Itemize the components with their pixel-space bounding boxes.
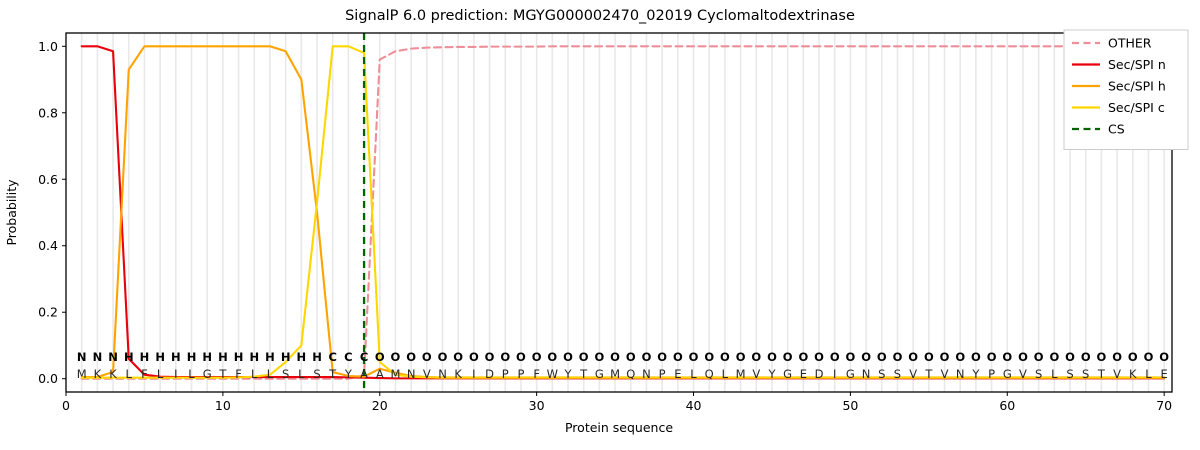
sequence-letter: F xyxy=(235,367,242,381)
sequence-letter: M xyxy=(77,367,87,381)
sequence-letter: E xyxy=(800,367,807,381)
sequence-letter: N xyxy=(438,367,447,381)
sequence-letter: V xyxy=(1019,367,1027,381)
sequence-letter: G xyxy=(203,367,212,381)
sequence-letter: L xyxy=(1145,367,1152,381)
region-annotation-letter: O xyxy=(1049,350,1059,364)
sequence-letter: S xyxy=(1066,367,1073,381)
region-annotation-letter: O xyxy=(830,350,840,364)
sequence-letter: I xyxy=(472,367,475,381)
region-annotation-letter: O xyxy=(594,350,604,364)
sequence-letter: W xyxy=(547,367,558,381)
region-annotation-letter: O xyxy=(516,350,526,364)
sequence-letter: K xyxy=(109,367,117,381)
sequence-letter: F xyxy=(141,367,148,381)
region-annotation-letter: O xyxy=(422,350,432,364)
sequence-letter: T xyxy=(1097,367,1106,381)
sequence-letter: T xyxy=(328,367,337,381)
sequence-letter: V xyxy=(752,367,760,381)
x-tick-label: 40 xyxy=(686,398,702,413)
sequence-letter: D xyxy=(815,367,824,381)
region-annotation-letter: O xyxy=(1002,350,1012,364)
sequence-letter: G xyxy=(846,367,855,381)
legend-label-sec-spi-c: Sec/SPI c xyxy=(1108,100,1165,115)
region-annotation-letter: O xyxy=(955,350,965,364)
region-annotation-letter: O xyxy=(704,350,714,364)
sequence-letter: S xyxy=(282,367,289,381)
sequence-letter: L xyxy=(157,367,164,381)
sequence-letter: F xyxy=(533,367,540,381)
region-annotation-letter: H xyxy=(312,350,322,364)
x-axis-label: Protein sequence xyxy=(565,420,673,435)
region-annotation-letter: O xyxy=(406,350,416,364)
sequence-letter: S xyxy=(894,367,901,381)
region-annotation-letter: N xyxy=(93,350,103,364)
region-annotation-letter: O xyxy=(375,350,385,364)
sequence-letter: L xyxy=(188,367,195,381)
sequence-letter: T xyxy=(579,367,588,381)
region-annotation-letter: C xyxy=(328,350,336,364)
region-annotation-letter: O xyxy=(1128,350,1138,364)
region-annotation-letter: N xyxy=(77,350,87,364)
sequence-letter: K xyxy=(94,367,102,381)
sequence-letter: M xyxy=(390,367,400,381)
plot-background xyxy=(66,33,1172,392)
region-annotation-letter: O xyxy=(485,350,495,364)
region-annotation-letter: H xyxy=(155,350,165,364)
sequence-letter: L xyxy=(690,367,697,381)
region-annotation-letter: O xyxy=(720,350,730,364)
region-annotation-letter: O xyxy=(1144,350,1154,364)
plot-canvas: 0.00.20.40.60.81.0010203040506070Protein… xyxy=(0,0,1200,450)
region-annotation-letter: O xyxy=(908,350,918,364)
region-annotation-letter: O xyxy=(1159,350,1169,364)
sequence-letter: A xyxy=(376,367,384,381)
y-tick-label: 0.8 xyxy=(38,105,58,120)
region-annotation-letter: O xyxy=(547,350,557,364)
region-annotation-letter: O xyxy=(1081,350,1091,364)
region-annotation-letter: H xyxy=(124,350,134,364)
sequence-letter: L xyxy=(1051,367,1058,381)
region-annotation-letter: O xyxy=(563,350,573,364)
region-annotation-letter: O xyxy=(1065,350,1075,364)
region-annotation-letter: O xyxy=(453,350,463,364)
sequence-letter: P xyxy=(988,367,995,381)
sequence-letter: L xyxy=(126,367,133,381)
y-tick-label: 0.2 xyxy=(38,305,58,320)
x-tick-label: 10 xyxy=(215,398,231,413)
region-annotation-letter: H xyxy=(187,350,197,364)
region-annotation-letter: O xyxy=(798,350,808,364)
legend-label-sec-spi-h: Sec/SPI h xyxy=(1108,79,1166,94)
region-annotation-letter: O xyxy=(940,350,950,364)
region-annotation-letter: H xyxy=(140,350,150,364)
y-tick-label: 0.4 xyxy=(38,238,58,253)
region-annotation-letter: O xyxy=(1018,350,1028,364)
y-tick-label: 1.0 xyxy=(38,39,58,54)
sequence-letter: P xyxy=(517,367,524,381)
x-tick-label: 30 xyxy=(529,398,545,413)
sequence-letter: M xyxy=(610,367,620,381)
sequence-letter: G xyxy=(783,367,792,381)
sequence-letter: A xyxy=(360,367,368,381)
sequence-letter: N xyxy=(956,367,965,381)
sequence-letter: T xyxy=(924,367,933,381)
region-annotation-letter: H xyxy=(281,350,291,364)
region-annotation-letter: H xyxy=(218,350,228,364)
sequence-letter: I xyxy=(174,367,177,381)
region-annotation-letter: O xyxy=(1112,350,1122,364)
region-annotation-letter: H xyxy=(171,350,181,364)
sequence-letter: E xyxy=(1161,367,1168,381)
sequence-letter: I xyxy=(833,367,836,381)
legend-label-sec-spi-n: Sec/SPI n xyxy=(1108,57,1166,72)
sequence-letter: V xyxy=(941,367,949,381)
sequence-letter: S xyxy=(1082,367,1089,381)
sequence-letter: Y xyxy=(971,367,980,381)
x-tick-label: 20 xyxy=(372,398,388,413)
region-annotation-letter: H xyxy=(202,350,212,364)
sequence-letter: N xyxy=(642,367,651,381)
sequence-letter: Y xyxy=(563,367,572,381)
region-annotation-letter: C xyxy=(344,350,352,364)
sequence-letter: V xyxy=(423,367,431,381)
region-annotation-letter: O xyxy=(579,350,589,364)
sequence-letter: N xyxy=(862,367,871,381)
x-tick-label: 0 xyxy=(62,398,70,413)
sequence-letter: E xyxy=(674,367,681,381)
region-annotation-letter: O xyxy=(391,350,401,364)
sequence-letter: T xyxy=(218,367,227,381)
sequence-letter: Q xyxy=(705,367,714,381)
x-tick-label: 70 xyxy=(1156,398,1172,413)
region-annotation-letter: O xyxy=(893,350,903,364)
region-annotation-letter: O xyxy=(751,350,761,364)
region-annotation-letter: O xyxy=(626,350,636,364)
sequence-letter: V xyxy=(1113,367,1121,381)
region-annotation-letter: O xyxy=(814,350,824,364)
region-annotation-letter: O xyxy=(846,350,856,364)
region-annotation-letter: O xyxy=(1097,350,1107,364)
sequence-letter: S xyxy=(1035,367,1042,381)
region-annotation-letter: N xyxy=(108,350,118,364)
x-tick-label: 60 xyxy=(999,398,1015,413)
sequence-letter: P xyxy=(502,367,509,381)
region-annotation-letter: O xyxy=(861,350,871,364)
sequence-letter: Q xyxy=(626,367,635,381)
region-annotation-letter: O xyxy=(673,350,683,364)
region-annotation-letter: O xyxy=(924,350,934,364)
region-annotation-letter: O xyxy=(877,350,887,364)
y-axis-label: Probability xyxy=(4,179,19,246)
sequence-letter: G xyxy=(595,367,604,381)
region-annotation-letter: O xyxy=(783,350,793,364)
legend-label-other: OTHER xyxy=(1108,36,1152,51)
region-annotation-letter: O xyxy=(438,350,448,364)
region-annotation-letter: O xyxy=(736,350,746,364)
sequence-letter: Y xyxy=(344,367,353,381)
region-annotation-letter: O xyxy=(532,350,542,364)
sequence-letter: K xyxy=(1129,367,1137,381)
region-annotation-letter: O xyxy=(610,350,620,364)
region-annotation-letter: O xyxy=(642,350,652,364)
sequence-letter: Y xyxy=(767,367,776,381)
region-annotation-letter: O xyxy=(971,350,981,364)
legend-label-cs: CS xyxy=(1108,122,1125,137)
sequence-letter: S xyxy=(313,367,320,381)
region-annotation-letter: O xyxy=(987,350,997,364)
sequence-letter: G xyxy=(1003,367,1012,381)
region-annotation-letter: O xyxy=(500,350,510,364)
y-tick-label: 0.0 xyxy=(38,371,58,386)
x-tick-label: 50 xyxy=(842,398,858,413)
sequence-letter: L xyxy=(267,367,274,381)
region-annotation-letter: H xyxy=(234,350,244,364)
region-annotation-letter: O xyxy=(469,350,479,364)
sequence-letter: S xyxy=(878,367,885,381)
sequence-letter: P xyxy=(659,367,666,381)
sequence-letter: L xyxy=(298,367,305,381)
region-annotation-letter: C xyxy=(360,350,368,364)
region-annotation-letter: O xyxy=(689,350,699,364)
sequence-letter: M xyxy=(736,367,746,381)
sequence-letter: L xyxy=(251,367,258,381)
region-annotation-letter: H xyxy=(265,350,275,364)
region-annotation-letter: O xyxy=(1034,350,1044,364)
region-annotation-letter: O xyxy=(657,350,667,364)
sequence-letter: N xyxy=(407,367,416,381)
sequence-letter: V xyxy=(909,367,917,381)
signalp-plot-figure: SignalP 6.0 prediction: MGYG000002470_02… xyxy=(0,0,1200,450)
sequence-letter: D xyxy=(485,367,494,381)
region-annotation-letter: O xyxy=(767,350,777,364)
y-tick-label: 0.6 xyxy=(38,172,58,187)
sequence-letter: K xyxy=(454,367,462,381)
sequence-letter: L xyxy=(722,367,729,381)
region-annotation-letter: H xyxy=(249,350,259,364)
region-annotation-letter: H xyxy=(297,350,307,364)
